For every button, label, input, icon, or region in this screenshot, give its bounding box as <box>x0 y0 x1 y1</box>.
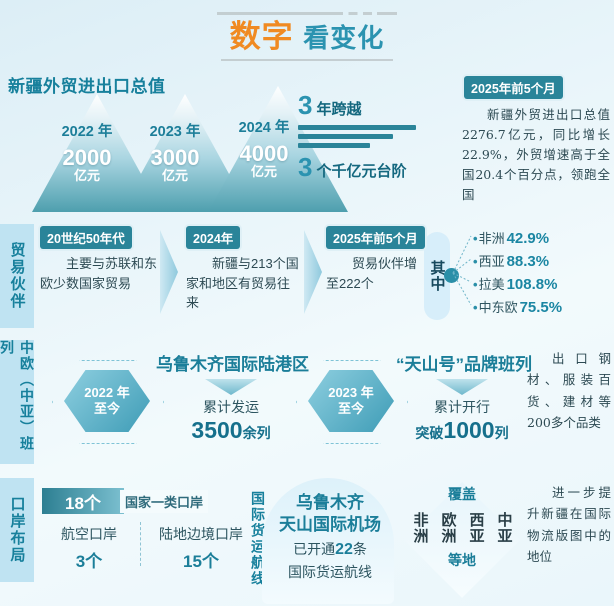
partner-value: 75.5% <box>520 299 563 316</box>
coverage-region: 欧洲 <box>438 512 459 544</box>
partner-text: 主要与苏联和东欧少数国家贸易 <box>40 254 158 293</box>
triangle-down-icon <box>205 379 257 395</box>
hex-line-2: 至今 <box>338 401 364 417</box>
partner-text: 贸易伙伴增至222个 <box>326 254 426 293</box>
rail-suffix: 余列 <box>243 425 271 441</box>
airport-routes-suffix: 条 <box>353 541 367 557</box>
coverage-top-label: 覆盖 <box>404 484 520 504</box>
airport-callout: 乌鲁木齐 天山国际机场 已开通22条 国际货运航线 <box>272 492 388 582</box>
step-bar-3 <box>298 143 370 148</box>
port-count-badge: 18个 <box>42 488 124 514</box>
port-divider <box>140 522 141 566</box>
rail-heading: “天山号”品牌班列 <box>396 350 528 375</box>
bullet-dot-icon: • <box>473 254 478 269</box>
rail-sub: 累计开行 <box>396 397 528 417</box>
airport-routes-prefix: 已开通 <box>293 541 335 557</box>
partner-block-2024: 2024年 新疆与213个国家和地区有贸易往来 <box>186 226 302 326</box>
rail-number: 1000 <box>443 417 494 443</box>
partner-growth-item: •拉美108.8% <box>473 274 557 293</box>
hex-line-2: 至今 <box>94 401 120 417</box>
partner-text: 新疆与213个国家和地区有贸易往来 <box>186 254 302 313</box>
title-text: 数字 看变化 <box>0 21 614 54</box>
coverage-region: 西亚 <box>466 512 487 544</box>
rail-heading: 乌鲁木齐国际陆港区 <box>156 350 306 375</box>
partner-growth-item: •非洲42.9% <box>473 228 549 247</box>
airport-name-line2: 天山国际机场 <box>272 514 388 536</box>
rail-sub: 累计发运 <box>156 397 306 417</box>
partner-badge: 2024年 <box>186 226 240 249</box>
partner-value: 108.8% <box>507 276 558 293</box>
steps-top-number: 3 <box>298 90 312 121</box>
steps-bottom-number: 3 <box>298 152 312 183</box>
port-label: 航空口岸 <box>44 524 134 544</box>
partner-badge: 20世纪50年代 <box>40 226 132 249</box>
port-number: 15个 <box>146 547 256 572</box>
port-count-caption: 国家一类口岸 <box>120 490 208 513</box>
rail-big-value: 突破1000列 <box>396 417 528 445</box>
infographic-canvas: 数字 看变化 新疆外贸进出口总值 2022 年 2000 亿元 2023 年 3… <box>0 0 614 606</box>
hex-line-1: 2023 年 <box>328 385 374 401</box>
partner-region: 拉美 <box>479 277 505 292</box>
note-2025-trade-value: 2025年前5个月 新疆外贸进出口总值2276.7亿元，同比增长22.9%，外贸… <box>462 76 610 205</box>
bullet-dot-icon: • <box>473 231 478 246</box>
coverage-bottom-label: 等地 <box>404 550 520 570</box>
section-port-layout: 18个 国家一类口岸 航空口岸 3个 陆地边境口岸 15个 国际货运航线 乌鲁木… <box>0 472 614 606</box>
partner-region: 非洲 <box>479 231 505 246</box>
note1-badge: 2025年前5个月 <box>464 76 563 99</box>
steps-bottom-text: 个千亿元台阶 <box>316 160 406 181</box>
partner-growth-item: •中东欧75.5% <box>473 297 562 316</box>
port-label: 陆地边境口岸 <box>146 524 256 544</box>
partner-region: 西亚 <box>479 254 505 269</box>
airport-routes-number: 22 <box>335 541 353 558</box>
note-logistics-position: 进一步提升新疆在国际物流版图中的地位 <box>527 482 611 567</box>
hex-line-1: 2022 年 <box>84 385 130 401</box>
airport-routes-label: 国际货运航线 <box>272 562 388 582</box>
mountain-chart: 2022 年 2000 亿元 2023 年 3000 亿元 2024 年 400… <box>32 92 332 212</box>
coverage-region: 非洲 <box>410 512 431 544</box>
section-total-trade-value: 新疆外贸进出口总值 2022 年 2000 亿元 2023 年 3000 亿元 … <box>0 70 470 215</box>
partner-value: 42.9% <box>507 230 550 247</box>
page-title: 数字 看变化 <box>0 12 614 61</box>
partner-block-2025: 2025年前5个月 贸易伙伴增至222个 <box>326 226 426 326</box>
rail-number: 3500 <box>191 417 242 443</box>
steps-callout: 3 年跨越 3 个千亿元台阶 <box>298 90 468 210</box>
steps-bottom-row: 3 个千亿元台阶 <box>298 152 468 183</box>
rail-block-land-port: 乌鲁木齐国际陆港区 累计发运 3500余列 <box>156 350 306 445</box>
step-bar-1 <box>298 125 416 130</box>
bullet-dot-icon: • <box>473 277 478 292</box>
port-number: 3个 <box>44 547 134 572</box>
section-rail-freight: 2022 年 至今 乌鲁木齐国际陆港区 累计发运 3500余列 2023 年 至… <box>0 338 614 466</box>
title-part-2: 看变化 <box>303 23 384 53</box>
partner-value: 88.3% <box>507 253 550 270</box>
steps-bars <box>298 125 468 148</box>
partner-growth-list: •非洲42.9% •西亚88.3% •拉美108.8% •中东欧75.5% <box>451 228 611 326</box>
coverage-region: 中亚 <box>494 512 515 544</box>
partner-block-1950s: 20世纪50年代 主要与苏联和东欧少数国家贸易 <box>40 226 158 326</box>
chevron-arrow-icon <box>304 230 322 314</box>
bullet-dot-icon: • <box>473 300 478 315</box>
steps-top-text: 年跨越 <box>316 98 361 119</box>
partner-growth-item: •西亚88.3% <box>473 251 549 270</box>
title-rule-bottom <box>221 59 393 61</box>
rail-block-tianshan: “天山号”品牌班列 累计开行 突破1000列 <box>396 350 528 445</box>
coverage-callout: 覆盖 非洲 欧洲 西亚 中亚 等地 <box>404 484 520 570</box>
partner-badge: 2025年前5个月 <box>326 226 425 249</box>
airport-name-line1: 乌鲁木齐 <box>272 492 388 514</box>
port-item-air: 航空口岸 3个 <box>44 524 134 572</box>
partner-region: 中东欧 <box>479 300 518 315</box>
step-bar-2 <box>298 134 393 139</box>
steps-top-row: 3 年跨越 <box>298 90 468 121</box>
title-part-1: 数字 <box>230 19 294 54</box>
rail-big-value: 3500余列 <box>156 417 306 445</box>
airport-routes-line: 已开通22条 <box>272 539 388 559</box>
title-rule-top <box>217 12 397 15</box>
triangle-down-icon <box>436 379 488 395</box>
note1-text: 新疆外贸进出口总值2276.7亿元，同比增长22.9%，外贸增速高于全国20.4… <box>462 105 610 205</box>
rail-prefix: 突破 <box>415 425 443 441</box>
coverage-region-list: 非洲 欧洲 西亚 中亚 <box>404 512 520 544</box>
rail-suffix: 列 <box>495 425 509 441</box>
chevron-arrow-icon <box>160 230 178 314</box>
note-rail-categories: 出口钢材、服装百货、建材等200多个品类 <box>527 348 611 433</box>
port-item-land: 陆地边境口岸 15个 <box>146 524 256 572</box>
